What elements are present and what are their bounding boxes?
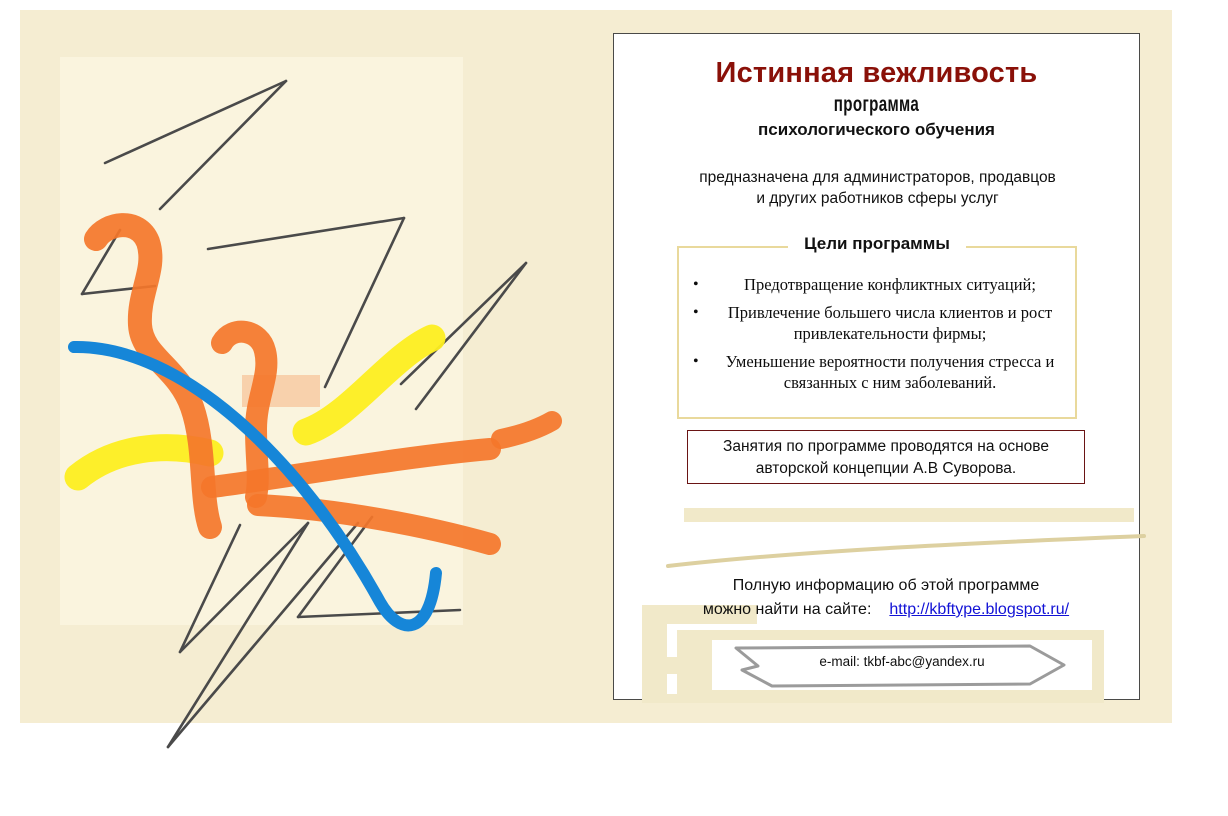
site-link[interactable]: http://kbftype.blogspot.ru/: [889, 601, 1069, 618]
yellow-brush-strokes: [78, 338, 432, 477]
goals-heading: Цели программы: [679, 234, 1075, 254]
info-line-2-wrapper: можно найти на сайте:http://kbftype.blog…: [636, 598, 1136, 622]
goal-text: Предотвращение конфликтных ситуаций;: [744, 275, 1036, 294]
note-line-1: Занятия по программе проводятся на основ…: [723, 438, 1049, 455]
list-item: • Уменьшение вероятности получения стрес…: [713, 351, 1061, 393]
list-item: • Предотвращение конфликтных ситуаций;: [713, 274, 1061, 295]
audience-description: предназначена для администраторов, прода…: [638, 167, 1117, 209]
bullet-icon: •: [693, 351, 699, 372]
tan-sweep-curve-decoration: [666, 534, 1146, 568]
page-panel: Истинная вежливость программа психологич…: [20, 10, 1172, 723]
list-item: • Привлечение большего числа клиентов и …: [713, 302, 1061, 344]
subtitle-program: программа: [688, 93, 1066, 117]
bullet-icon: •: [693, 274, 699, 295]
info-block: Полную информацию об этой программе можн…: [636, 574, 1136, 622]
illustration-canvas: [60, 57, 463, 625]
subtitle-training: психологического обучения: [614, 120, 1139, 140]
email-banner: e-mail: tkbf-abc@yandex.ru: [712, 640, 1092, 690]
goals-list: • Предотвращение конфликтных ситуаций; •…: [679, 248, 1075, 393]
goal-text: Привлечение большего числа клиентов и ро…: [728, 303, 1052, 343]
audience-line-2: и других работников сферы услуг: [756, 190, 998, 207]
screenshot-root: Истинная вежливость программа психологич…: [0, 0, 1228, 816]
audience-line-1: предназначена для администраторов, прода…: [699, 169, 1056, 186]
note-line-2: авторской концепции А.В Суворова.: [756, 460, 1016, 477]
gray-zigzag-lines: [82, 81, 526, 747]
abstract-artwork-svg: [60, 57, 620, 677]
goals-box: Цели программы • Предотвращение конфликт…: [677, 246, 1077, 419]
program-card: Истинная вежливость программа психологич…: [613, 33, 1140, 700]
info-line-1: Полную информацию об этой программе: [733, 577, 1040, 594]
email-address[interactable]: e-mail: tkbf-abc@yandex.ru: [712, 654, 1092, 669]
note-text: Занятия по программе проводятся на основ…: [688, 431, 1084, 480]
note-box: Занятия по программе проводятся на основ…: [687, 430, 1085, 484]
info-line-2: можно найти на сайте:: [703, 601, 872, 618]
goal-text: Уменьшение вероятности получения стресса…: [726, 352, 1055, 392]
tan-band-top-decoration: [684, 508, 1134, 522]
tan-bottom-strip: [642, 694, 1104, 703]
orange-brush-strokes: [96, 225, 552, 544]
page-title: Истинная вежливость: [614, 57, 1139, 90]
goals-heading-label: Цели программы: [788, 234, 966, 253]
blue-brush-stroke: [74, 347, 436, 625]
bullet-icon: •: [693, 302, 699, 323]
